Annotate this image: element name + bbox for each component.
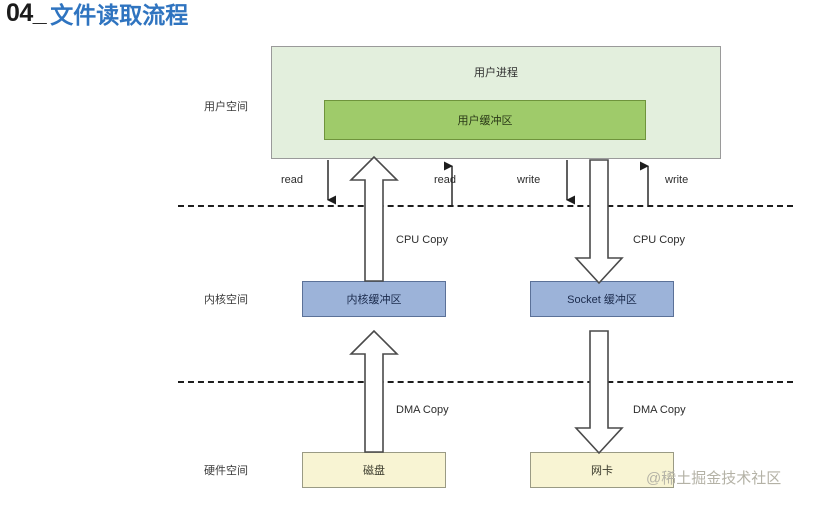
- block-arrow-dma-copy-down: [576, 331, 622, 453]
- caption-cpu-copy-left: CPU Copy: [396, 234, 448, 246]
- block-arrow-cpu-copy-up: [351, 157, 397, 281]
- box-disk: 磁盘: [302, 452, 446, 488]
- watermark: @稀土掘金技术社区: [646, 467, 781, 488]
- zone-label-kernel-space: 内核空间: [204, 291, 248, 307]
- block-arrow-dma-copy-up: [351, 331, 397, 452]
- caption-dma-copy-right: DMA Copy: [633, 404, 686, 416]
- caption-dma-copy-left: DMA Copy: [396, 404, 449, 416]
- block-arrow-cpu-copy-down: [576, 160, 622, 283]
- caption-read-left: read: [281, 174, 303, 186]
- zone-label-user-space: 用户空间: [204, 98, 248, 114]
- zone-label-hardware-space: 硬件空间: [204, 462, 248, 478]
- caption-write-left: write: [517, 174, 540, 186]
- caption-read-right: read: [434, 174, 456, 186]
- box-socket-buffer: Socket 缓冲区: [530, 281, 674, 317]
- box-kernel-buffer: 内核缓冲区: [302, 281, 446, 317]
- separator-kernel-hardware: [178, 381, 793, 383]
- file-read-flow-diagram: 用户空间 内核空间 硬件空间 用户进程 用户缓冲区 内核缓冲区 Socket 缓…: [0, 0, 820, 508]
- caption-cpu-copy-right: CPU Copy: [633, 234, 685, 246]
- box-user-buffer: 用户缓冲区: [324, 100, 646, 140]
- caption-write-right: write: [665, 174, 688, 186]
- separator-user-kernel: [178, 205, 793, 207]
